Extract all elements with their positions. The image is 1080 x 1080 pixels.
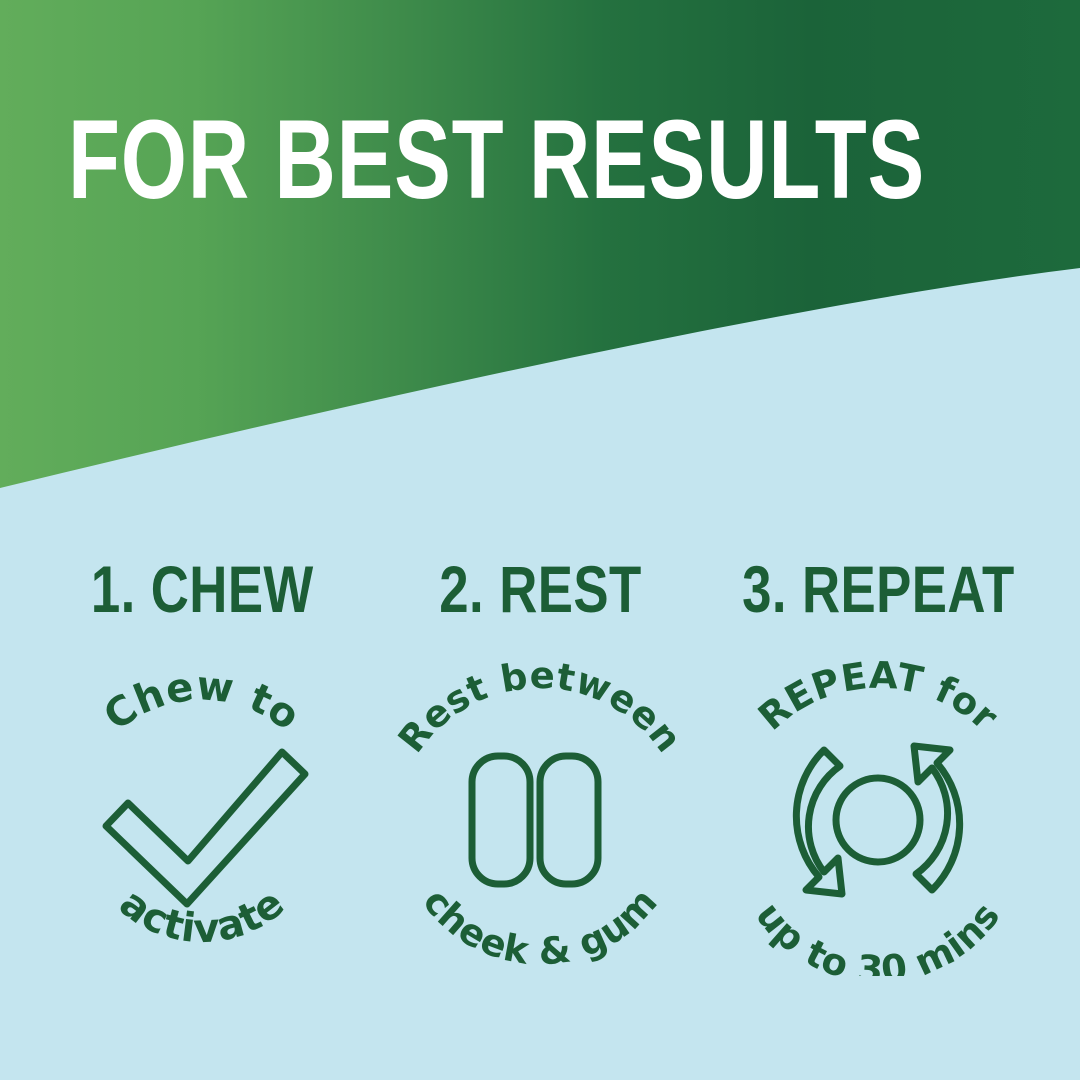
repeat-cycle-icon (796, 746, 959, 894)
step-1-arc-top: Chew to (96, 663, 309, 740)
step-1-heading: 1. CHEW (91, 556, 314, 622)
step-1-chew: 1. CHEW Chew to activate (34, 540, 370, 1010)
two-pouches-icon (472, 756, 598, 884)
step-2-arc-top: Rest between (390, 656, 691, 760)
step-3-arc-bottom: up to 30 mins (747, 894, 1008, 976)
page-title: FOR BEST RESULTS (68, 104, 925, 216)
step-3-repeat: 3. REPEAT REPEAT for up to 30 mins (710, 540, 1046, 1010)
step-3-arc-top: REPEAT for (750, 656, 1006, 739)
step-3-badge: REPEAT for up to 30 mins (718, 656, 1038, 976)
infographic-card: FOR BEST RESULTS 1. CHEW Chew to activat… (0, 0, 1080, 1080)
step-1-badge: Chew to activate (42, 656, 362, 976)
step-2-badge: Rest between cheek & gum (380, 656, 700, 976)
header-banner: FOR BEST RESULTS (0, 0, 1080, 520)
banner-shape (0, 0, 1080, 520)
steps-row: 1. CHEW Chew to activate (0, 540, 1080, 1040)
step-3-heading: 3. REPEAT (742, 556, 1015, 622)
step-2-rest: 2. REST Rest between cheek & gum (372, 540, 708, 1010)
step-2-heading: 2. REST (439, 556, 641, 622)
checkmark-icon (106, 752, 305, 904)
step-2-arc-bottom: cheek & gum (414, 880, 665, 974)
